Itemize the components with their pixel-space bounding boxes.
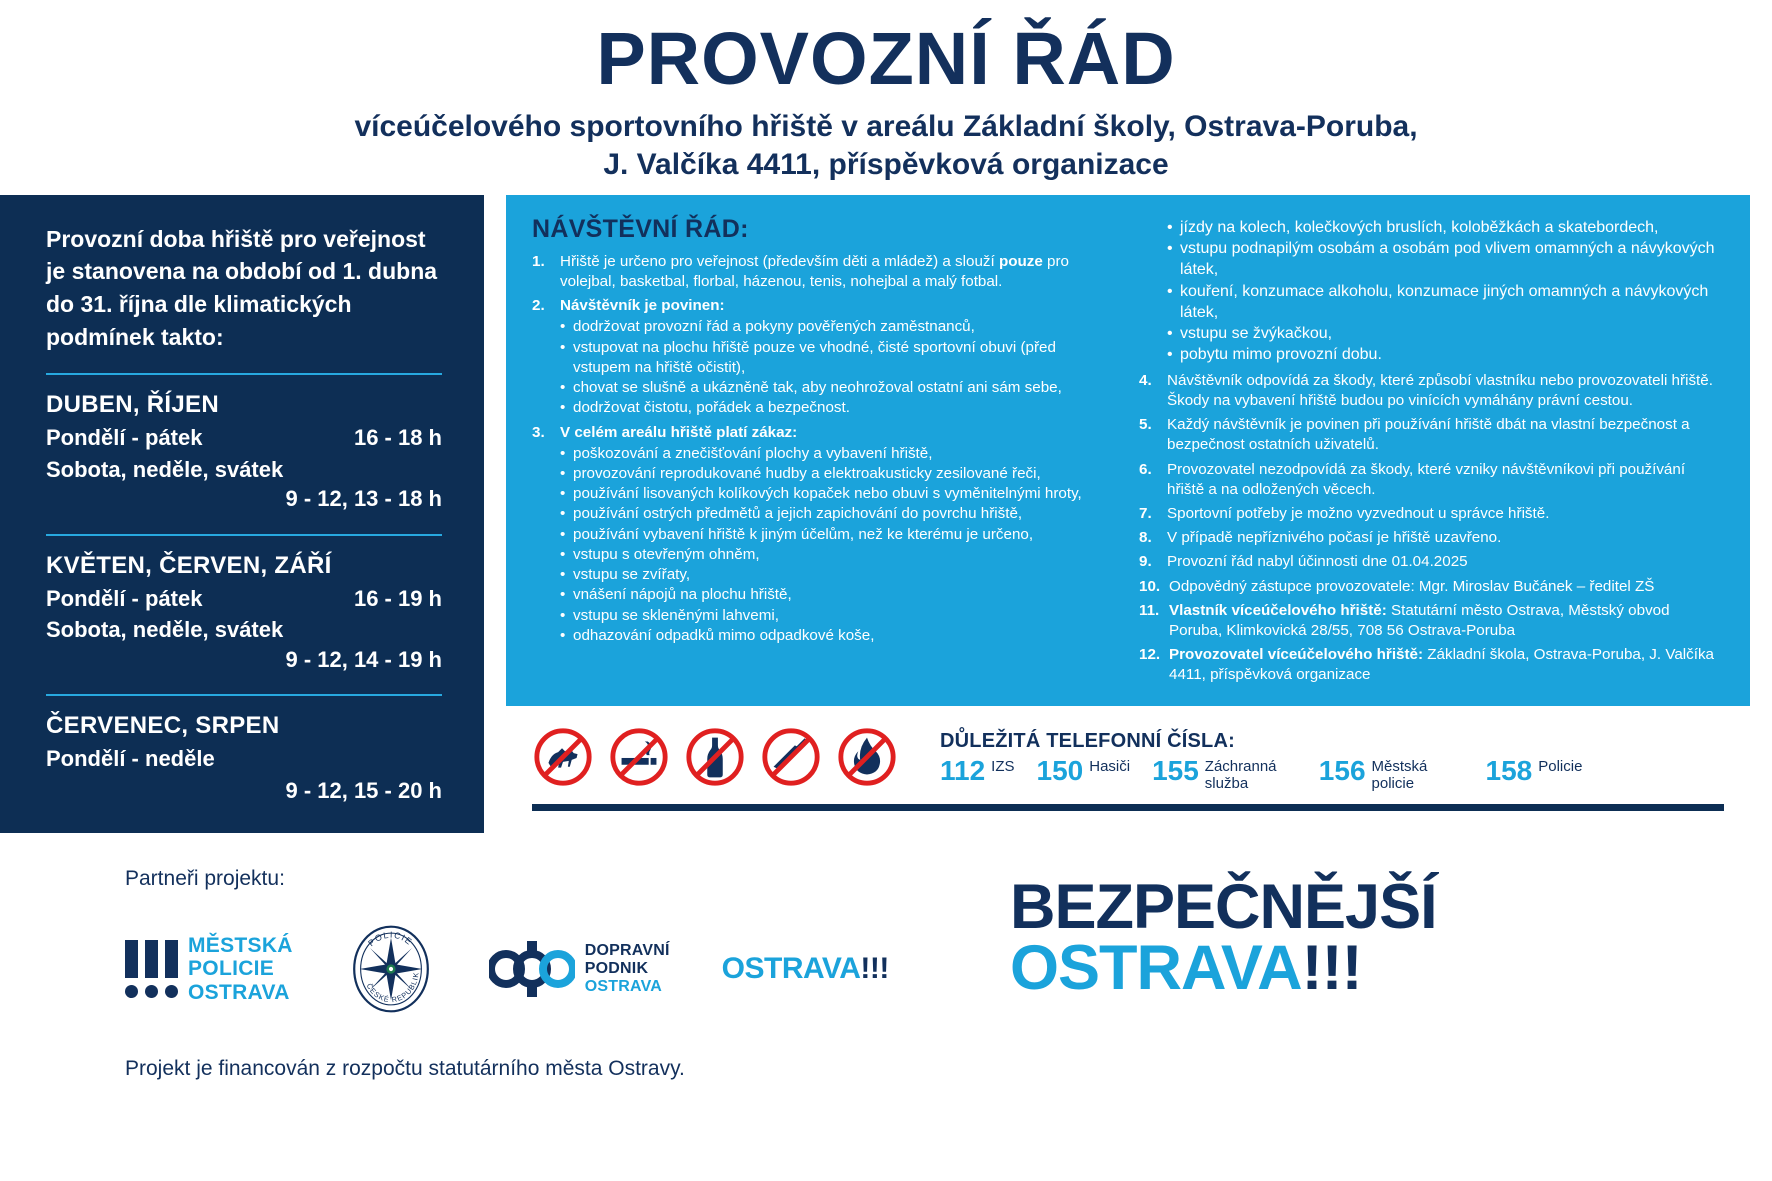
no-smoking-icon — [608, 726, 670, 788]
rule-text: Návštěvník je povinen: dodržovat provozn… — [560, 296, 1117, 418]
rule-sub-item: vstupu se skleněnými lahvemi, — [560, 606, 1117, 626]
rule-text: V případě nepříznivého počasí je hřiště … — [1167, 528, 1724, 548]
rule-text: V celém areálu hřiště platí zákaz: poško… — [560, 423, 1117, 646]
phone-number: 156 — [1319, 757, 1366, 785]
ostrava-exclamations: !!! — [860, 952, 888, 985]
hours-value: 9 - 12, 13 - 18 h — [46, 484, 442, 513]
rule-text: Provozní řád nabyl účinnosti dne 01.04.2… — [1167, 552, 1724, 572]
rule-sub-item: pobytu mimo provozní dobu. — [1167, 344, 1724, 365]
mp-line-3: OSTRAVA — [188, 981, 293, 1005]
rule-number: 6. — [1139, 460, 1167, 500]
phone-entry: 158 Policie — [1486, 757, 1583, 785]
rule-subheading: V celém areálu hřiště platí zákaz: — [560, 424, 797, 441]
mp-line-1: MĚSTSKÁ — [188, 934, 293, 958]
phone-entry: 112 IZS — [940, 757, 1015, 785]
no-dogs-icon — [532, 726, 594, 788]
dpo-mark-icon — [489, 941, 575, 997]
hours-label: Sobota, neděle, — [46, 617, 209, 642]
rule-sub-item: odhazování odpadků mimo odpadkové koše, — [560, 626, 1117, 646]
rule-item-8: 8. V případě nepříznivého počasí je hřiš… — [1139, 528, 1724, 548]
campaign-exclamations: !!! — [1302, 933, 1362, 1003]
rule-sub-list: dodržovat provozní řád a pokyny pověřený… — [560, 317, 1117, 418]
divider — [46, 373, 442, 375]
rule-sub-item: jízdy na kolech, kolečkových bruslích, k… — [1167, 217, 1724, 238]
partner-logos: MĚSTSKÁ POLICIE OSTRAVA — [125, 923, 1010, 1015]
rule-sub-item: vstupu se zvířaty, — [560, 565, 1117, 585]
rule-item-2: 2. Návštěvník je povinen: dodržovat prov… — [532, 296, 1117, 418]
campaign-logo: BEZPEČNĚJŠÍ OSTRAVA!!! — [1010, 867, 1772, 1081]
rules-list-right: 4. Návštěvník odpovídá za škody, které z… — [1139, 371, 1724, 686]
hours-value: 16 - 18 h — [354, 423, 442, 452]
page-subtitle: víceúčelového sportovního hřiště v areál… — [40, 108, 1732, 185]
campaign-line-1: BEZPEČNĚJŠÍ — [1010, 877, 1742, 937]
logo-policie-ceske-republiky: POLICIE ČESKÉ REPUBLIKY — [345, 923, 437, 1015]
rule-item-4: 4. Návštěvník odpovídá za škody, které z… — [1139, 371, 1724, 411]
icons-and-phones-row: DŮLEŽITÁ TELEFONNÍ ČÍSLA: 112 IZS 150 Ha… — [506, 706, 1750, 793]
rule-item-7: 7. Sportovní potřeby je možno vyzvednout… — [1139, 504, 1724, 524]
hours-label: Sobota, neděle, — [46, 457, 209, 482]
rule-text: Každý návštěvník je povinen při používán… — [1167, 415, 1724, 455]
rule-number: 2. — [532, 296, 560, 418]
bottom-rule — [532, 804, 1724, 811]
mp-line-2: POLICIE — [188, 957, 293, 981]
phone-label: Policie — [1538, 757, 1582, 776]
phone-number: 150 — [1037, 757, 1084, 785]
phone-number: 155 — [1152, 757, 1199, 785]
rule-sub-item: používání lisovaných kolíkových kopaček … — [560, 484, 1117, 504]
rule-number: 11. — [1139, 601, 1169, 641]
dpo-line-3: OSTRAVA — [585, 978, 670, 996]
logo-mestska-policie-ostrava: MĚSTSKÁ POLICIE OSTRAVA — [125, 934, 293, 1005]
visitor-rules-box: NÁVŠTĚVNÍ ŘÁD: 1. Hřiště je určeno pro v… — [506, 195, 1750, 706]
rule-sub-item: kouření, konzumace alkoholu, konzumace j… — [1167, 281, 1724, 324]
hours-label: Pondělí - pátek — [46, 584, 202, 613]
logo-dopravni-podnik-ostrava: DOPRAVNÍ PODNIK OSTRAVA — [489, 941, 670, 997]
hours-label-2: svátek — [215, 455, 284, 484]
rule-number: 1. — [532, 252, 560, 292]
poster-footer: Partneři projektu: MĚSTSKÁ POLICIE OSTRA… — [0, 833, 1772, 1081]
rule-sub-item: vnášení nápojů na plochu hřiště, — [560, 585, 1117, 605]
visitor-rules-panel: NÁVŠTĚVNÍ ŘÁD: 1. Hřiště je určeno pro v… — [506, 195, 1750, 812]
rule-number: 10. — [1139, 577, 1169, 597]
rule-number: 9. — [1139, 552, 1167, 572]
rule-sub-item: vstupovat na plochu hřiště pouze ve vhod… — [560, 338, 1117, 378]
rule-text: Provozovatel nezodpovídá za škody, které… — [1167, 460, 1724, 500]
mp-logo-text: MĚSTSKÁ POLICIE OSTRAVA — [188, 934, 293, 1005]
rule-sub-item: vstupu se žvýkačkou, — [1167, 323, 1724, 344]
rules-column-right: jízdy na kolech, kolečkových bruslích, k… — [1139, 215, 1724, 690]
hours-value: 9 - 12, 14 - 19 h — [46, 645, 442, 674]
phone-number: 158 — [1486, 757, 1533, 785]
season-name: ČERVENEC, SRPEN — [46, 712, 442, 740]
rule-subheading: Návštěvník je povinen: — [560, 297, 725, 314]
page-title: PROVOZNÍ ŘÁD — [40, 22, 1732, 96]
rule-number: 8. — [1139, 528, 1167, 548]
rules-continued-list: jízdy na kolech, kolečkových bruslích, k… — [1167, 217, 1724, 366]
page-subtitle-line2: J. Valčíka 4411, příspěvková organizace — [40, 146, 1732, 184]
rule-sub-item: používání vybavení hřiště k jiným účelům… — [560, 525, 1117, 545]
rules-column-left: NÁVŠTĚVNÍ ŘÁD: 1. Hřiště je určeno pro v… — [532, 215, 1117, 690]
hours-label-2: svátek — [215, 615, 284, 644]
season-name: DUBEN, ŘÍJEN — [46, 391, 442, 419]
emergency-phones-title: DŮLEŽITÁ TELEFONNÍ ČÍSLA: — [940, 730, 1724, 753]
phone-label: Městská policie — [1372, 757, 1464, 793]
no-sharp-objects-icon — [760, 726, 822, 788]
rule-text: Odpovědný zástupce provozovatele: Mgr. M… — [1169, 577, 1724, 597]
rules-heading: NÁVŠTĚVNÍ ŘÁD: — [532, 215, 1117, 244]
ostrava-word-text: OSTRAVA — [722, 952, 861, 985]
divider — [46, 534, 442, 536]
dpo-line-1: DOPRAVNÍ — [585, 942, 670, 960]
season-name: KVĚTEN, ČERVEN, ZÁŘÍ — [46, 552, 442, 580]
rule-item-11: 11. Vlastník víceúčelového hřiště: Statu… — [1139, 601, 1724, 641]
rule-text-pre: Hřiště je určeno pro veřejnost (předevší… — [560, 253, 999, 270]
rule-number: 7. — [1139, 504, 1167, 524]
dpo-line-2: PODNIK — [585, 960, 670, 978]
hours-label: Pondělí - pátek — [46, 423, 202, 452]
hours-row: Sobota, neděle, svátek 9 - 12, 13 - 18 h — [46, 455, 442, 514]
partners-label: Partneři projektu: — [125, 867, 1010, 891]
opening-hours-intro: Provozní doba hřiště pro veřejnost je st… — [46, 223, 442, 354]
rule-text-bold: Provozovatel víceúčelového hřiště: — [1169, 646, 1423, 663]
divider — [46, 694, 442, 696]
rule-text: Provozovatel víceúčelového hřiště: Zákla… — [1169, 645, 1724, 685]
poster-body: Provozní doba hřiště pro veřejnost je st… — [0, 195, 1772, 833]
hours-row: 9 - 12, 15 - 20 h — [46, 776, 442, 805]
rule-text: Sportovní potřeby je možno vyzvednout u … — [1167, 504, 1724, 524]
rule-item-5: 5. Každý návštěvník je povinen při použí… — [1139, 415, 1724, 455]
rule-sub-item: vstupu podnapilým osobám a osobám pod vl… — [1167, 238, 1724, 281]
phone-entry: 155 Záchranná služba — [1152, 757, 1297, 793]
opening-hours-panel: Provozní doba hřiště pro veřejnost je st… — [0, 195, 484, 833]
rule-number: 12. — [1139, 645, 1169, 685]
phone-entry: 150 Hasiči — [1037, 757, 1131, 785]
hours-row: Pondělí - neděle — [46, 744, 442, 773]
rule-text: Hřiště je určeno pro veřejnost (předevší… — [560, 252, 1117, 292]
rule-number: 3. — [532, 423, 560, 646]
hours-value: 9 - 12, 15 - 20 h — [46, 776, 442, 805]
rule-sub-item: dodržovat provozní řád a pokyny pověřený… — [560, 317, 1117, 337]
phone-label: IZS — [991, 757, 1014, 776]
phone-label: Hasiči — [1089, 757, 1130, 776]
season-block-cervenec-srpen: ČERVENEC, SRPEN Pondělí - neděle 9 - 12,… — [46, 712, 442, 805]
funding-note: Projekt je financován z rozpočtu statutá… — [125, 1057, 1010, 1081]
rule-item-12: 12. Provozovatel víceúčelového hřiště: Z… — [1139, 645, 1724, 685]
rule-item-10: 10. Odpovědný zástupce provozovatele: Mg… — [1139, 577, 1724, 597]
rule-sub-item: používání ostrých předmětů a jejich zapi… — [560, 504, 1117, 524]
rule-text: Návštěvník odpovídá za škody, které způs… — [1167, 371, 1724, 411]
rule-number: 4. — [1139, 371, 1167, 411]
rule-text-bold: pouze — [999, 253, 1043, 270]
rule-item-9: 9. Provozní řád nabyl účinnosti dne 01.0… — [1139, 552, 1724, 572]
poster-header: PROVOZNÍ ŘÁD víceúčelového sportovního h… — [0, 0, 1772, 195]
hours-label: Pondělí - neděle — [46, 744, 215, 773]
phone-number: 112 — [940, 757, 985, 785]
season-block-duben-rijen: DUBEN, ŘÍJEN Pondělí - pátek 16 - 18 h S… — [46, 391, 442, 513]
page-subtitle-line1: víceúčelového sportovního hřiště v areál… — [40, 108, 1732, 146]
rule-text-bold: Vlastník víceúčelového hřiště: — [1169, 602, 1387, 619]
emergency-phones-list: 112 IZS 150 Hasiči 155 Záchranná služba … — [940, 757, 1724, 793]
logo-ostrava: OSTRAVA!!! — [722, 952, 889, 986]
rule-text: Vlastník víceúčelového hřiště: Statutárn… — [1169, 601, 1724, 641]
rule-number: 5. — [1139, 415, 1167, 455]
campaign-line-2: OSTRAVA!!! — [1010, 938, 1742, 998]
mp-marks-icon — [125, 940, 178, 998]
rule-item-1: 1. Hřiště je určeno pro veřejnost (přede… — [532, 252, 1117, 292]
prohibition-icons — [532, 722, 898, 788]
rule-sub-item: chovat se slušně a ukázněně tak, aby neo… — [560, 378, 1117, 398]
rule-sub-item: poškozování a znečišťování plochy a vyba… — [560, 444, 1117, 464]
rule-sub-item: provozování reprodukované hudby a elektr… — [560, 464, 1117, 484]
hours-row: Sobota, neděle, svátek 9 - 12, 14 - 19 h — [46, 615, 442, 674]
rule-sub-item: dodržovat čistotu, pořádek a bezpečnost. — [560, 398, 1117, 418]
phone-entry: 156 Městská policie — [1319, 757, 1464, 793]
rules-list-left: 1. Hřiště je určeno pro veřejnost (přede… — [532, 252, 1117, 646]
rule-item-6: 6. Provozovatel nezodpovídá za škody, kt… — [1139, 460, 1724, 500]
hours-row: Pondělí - pátek 16 - 19 h — [46, 584, 442, 613]
rule-sub-list: poškozování a znečišťování plochy a vyba… — [560, 444, 1117, 646]
no-open-fire-icon — [836, 726, 898, 788]
rule-sub-item: vstupu s otevřeným ohněm, — [560, 545, 1117, 565]
rule-item-3: 3. V celém areálu hřiště platí zákaz: po… — [532, 423, 1117, 646]
dpo-logo-text: DOPRAVNÍ PODNIK OSTRAVA — [585, 942, 670, 997]
footer-partners: Partneři projektu: MĚSTSKÁ POLICIE OSTRA… — [0, 867, 1010, 1081]
phone-label: Záchranná služba — [1205, 757, 1297, 793]
campaign-ostrava: OSTRAVA — [1010, 933, 1302, 1003]
emergency-phones: DŮLEŽITÁ TELEFONNÍ ČÍSLA: 112 IZS 150 Ha… — [918, 722, 1724, 793]
hours-row: Pondělí - pátek 16 - 18 h — [46, 423, 442, 452]
season-block-kveten-cerven-zari: KVĚTEN, ČERVEN, ZÁŘÍ Pondělí - pátek 16 … — [46, 552, 442, 674]
hours-value: 16 - 19 h — [354, 584, 442, 613]
no-bottles-icon — [684, 726, 746, 788]
